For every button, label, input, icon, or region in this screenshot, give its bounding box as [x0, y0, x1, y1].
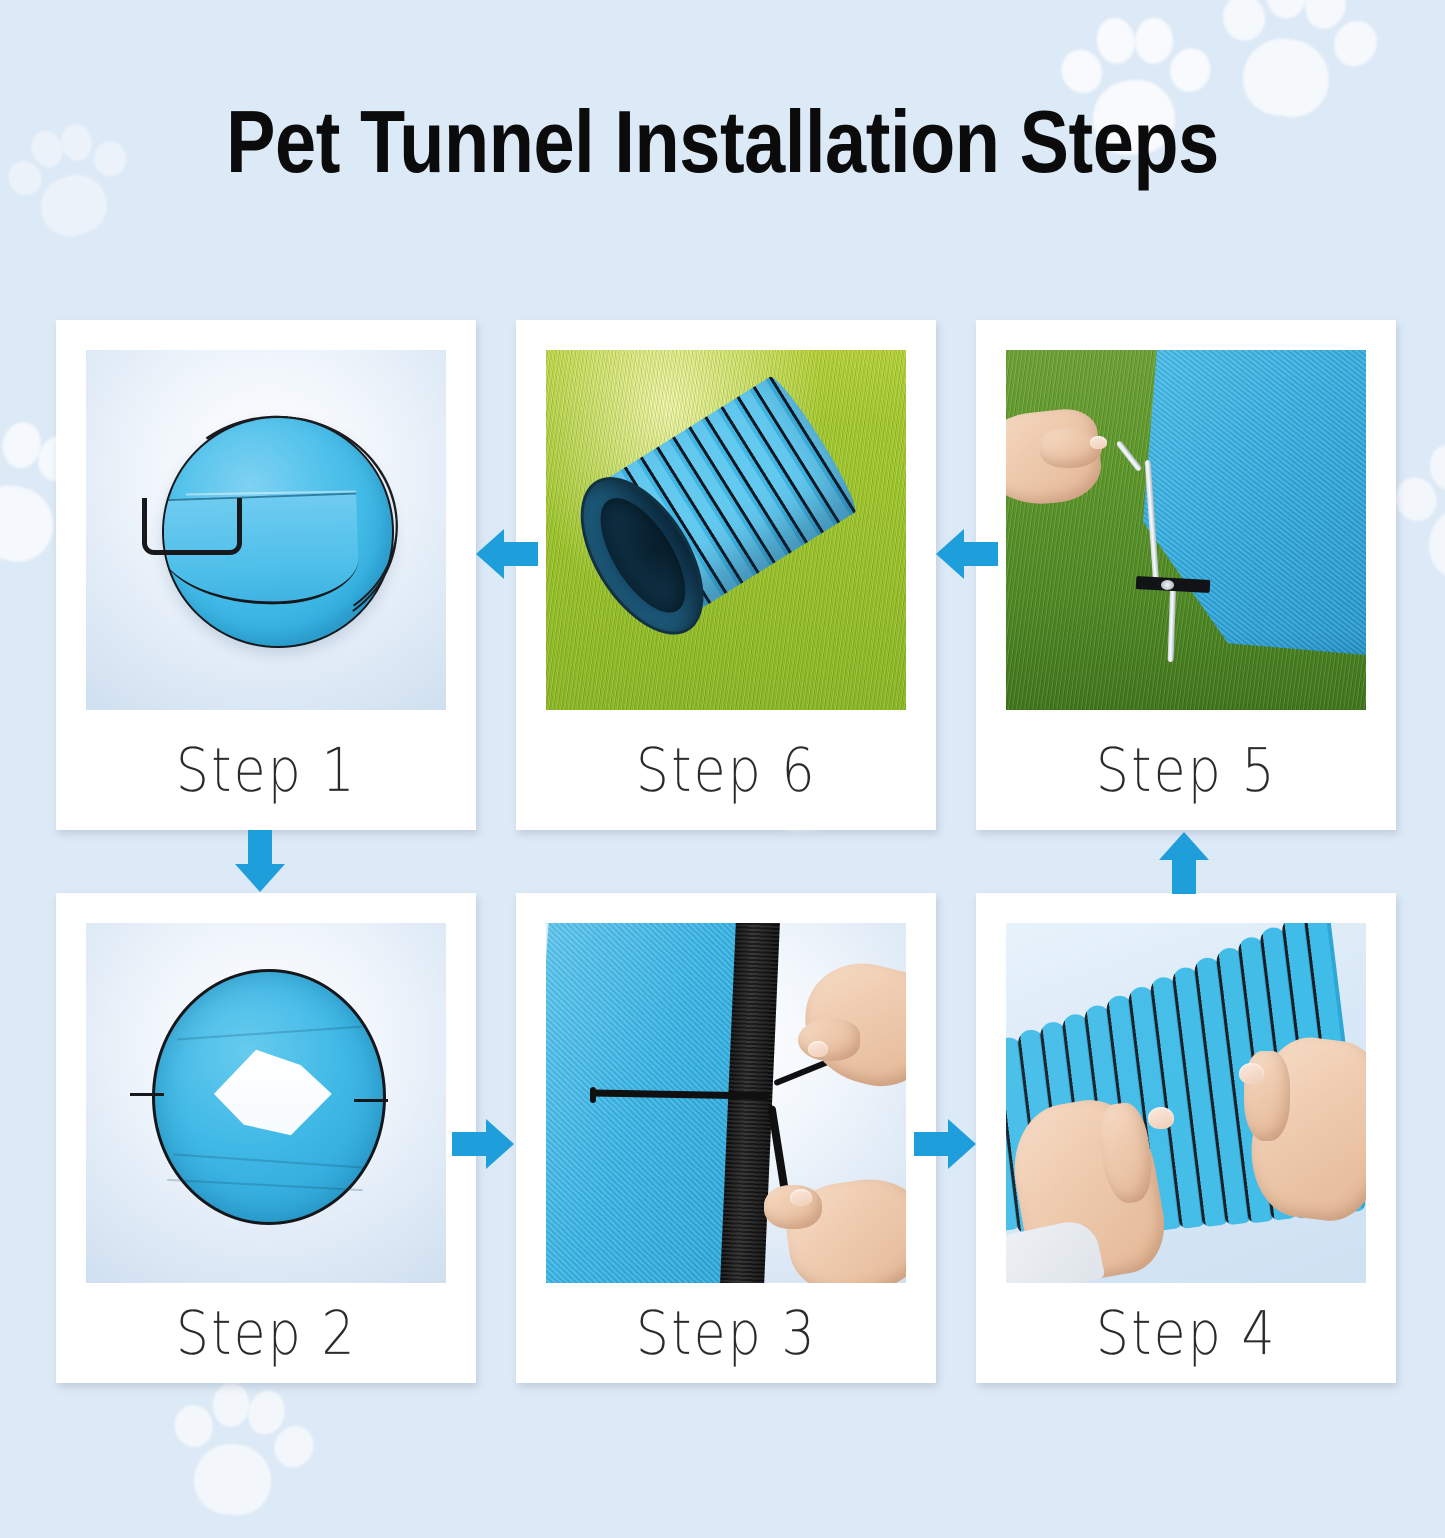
step-caption: Step 2: [173, 1283, 359, 1383]
step-photo-step-5: [1006, 350, 1366, 710]
step-card-step-1[interactable]: Step 1: [56, 320, 476, 830]
step-card-step-6[interactable]: Step 6: [516, 320, 936, 830]
step-photo-step-3: [546, 923, 906, 1283]
step-photo-step-2: [86, 923, 446, 1283]
drawcord-end-icon: [590, 1087, 596, 1103]
fingernail-icon: [1239, 1063, 1264, 1084]
arrow-down-icon: [228, 828, 292, 899]
step-card-step-2[interactable]: Step 2: [56, 893, 476, 1383]
arrow-left-icon: [474, 522, 540, 591]
step-card-step-5[interactable]: Step 5: [976, 320, 1396, 830]
step-photo-step-1: [86, 350, 446, 710]
arrow-up-icon: [1152, 830, 1216, 901]
fingernail-icon: [808, 1041, 828, 1057]
arrow-right-icon: [912, 1112, 978, 1181]
page-title: Pet Tunnel Installation Steps: [116, 96, 1330, 188]
fingernail-icon: [790, 1189, 812, 1206]
step-photo-step-6: [546, 350, 906, 710]
string-tie-right-icon: [354, 1099, 388, 1102]
step-caption: Step 4: [1093, 1283, 1279, 1383]
grommet-icon: [1161, 580, 1174, 590]
fingernail-icon: [1090, 436, 1107, 449]
step-photo-step-4: [1006, 923, 1366, 1283]
step-caption: Step 6: [633, 710, 819, 830]
tunnel-opening-icon: [209, 1044, 333, 1140]
step-caption: Step 5: [1093, 710, 1279, 830]
tunnel-ring-icon: [152, 969, 386, 1225]
step-card-step-4[interactable]: Step 4: [976, 893, 1396, 1383]
arrow-left-icon: [934, 522, 1000, 591]
carry-handle-icon: [142, 498, 242, 555]
fingernail-icon: [1148, 1107, 1174, 1129]
step-card-step-3[interactable]: Step 3: [516, 893, 936, 1383]
step-caption: Step 3: [633, 1283, 819, 1383]
finger-icon: [798, 1019, 860, 1061]
string-tie-left-icon: [130, 1093, 164, 1096]
paw-print-icon: [160, 1371, 318, 1537]
step-caption: Step 1: [173, 710, 359, 830]
arrow-right-icon: [450, 1112, 516, 1181]
